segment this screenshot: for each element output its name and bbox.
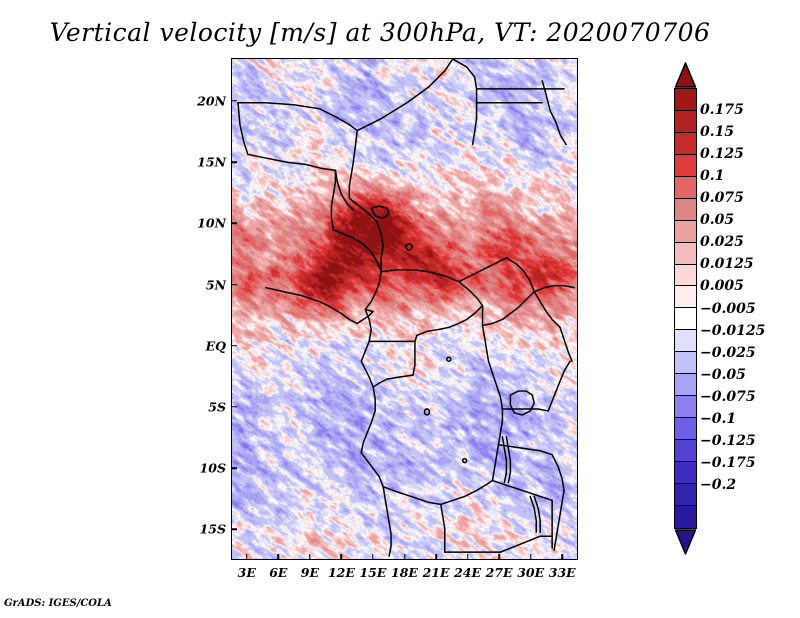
x-axis-tick-label: 21E bbox=[423, 565, 450, 580]
colorbar-band bbox=[675, 286, 696, 308]
colorbar-tick-label: 0.125 bbox=[700, 146, 744, 162]
colorbar-tick-label: −0.075 bbox=[700, 389, 756, 405]
x-axis-tick bbox=[309, 554, 311, 560]
colorbar-tick-label: −0.005 bbox=[700, 301, 756, 317]
colorbar-tick-label: 0.15 bbox=[700, 124, 734, 140]
x-axis-tick-label: 3E bbox=[238, 565, 256, 580]
colorbar-tick-label: 0.05 bbox=[700, 212, 734, 228]
y-axis-tick bbox=[231, 161, 237, 163]
colorbar-tick-label: −0.05 bbox=[700, 367, 746, 383]
country-borders-overlay bbox=[232, 59, 577, 558]
colorbar-band bbox=[675, 440, 696, 462]
colorbar-tick-label: −0.1 bbox=[700, 411, 736, 427]
x-axis-tick-label: 30E bbox=[517, 565, 544, 580]
colorbar-band bbox=[675, 330, 696, 352]
colorbar-tick-label: −0.175 bbox=[700, 455, 756, 471]
y-axis-ticks bbox=[231, 58, 239, 560]
x-axis-tick bbox=[467, 554, 469, 560]
x-axis-tick-label: 27E bbox=[486, 565, 513, 580]
x-axis-tick-label: 9E bbox=[301, 565, 319, 580]
y-axis-tick bbox=[231, 529, 237, 531]
colorbar-band bbox=[675, 243, 696, 265]
colorbar-tick-label: 0.1 bbox=[700, 168, 724, 184]
x-axis-tick-label: 12E bbox=[328, 565, 355, 580]
colorbar-band bbox=[675, 462, 696, 484]
colorbar-arrow-bottom bbox=[674, 529, 697, 555]
x-axis-tick-label: 18E bbox=[391, 565, 418, 580]
colorbar-band bbox=[675, 199, 696, 221]
colorbar-tick-label: −0.125 bbox=[700, 433, 756, 449]
colorbar-tick-label: −0.2 bbox=[700, 477, 736, 493]
x-axis-tick-label: 33E bbox=[549, 565, 576, 580]
colorbar-arrow-top bbox=[674, 62, 697, 88]
colorbar-band bbox=[675, 221, 696, 243]
y-axis-tick-label: EQ bbox=[206, 338, 226, 353]
colorbar-band bbox=[675, 265, 696, 287]
x-axis-tick-label: 6E bbox=[269, 565, 287, 580]
x-axis-tick bbox=[404, 554, 406, 560]
x-axis-labels: 3E6E9E12E15E18E21E24E27E30E33E bbox=[231, 565, 578, 585]
x-axis-tick bbox=[530, 554, 532, 560]
colorbar-bands bbox=[674, 88, 697, 529]
colorbar-tick-label: 0.175 bbox=[700, 102, 744, 118]
colorbar-band bbox=[675, 155, 696, 177]
y-axis-tick-label: 5S bbox=[208, 399, 226, 414]
colorbar-band bbox=[675, 111, 696, 133]
x-axis-tick bbox=[561, 554, 563, 560]
y-axis-tick-label: 10S bbox=[200, 461, 226, 476]
x-axis-tick bbox=[246, 554, 248, 560]
colorbar-band bbox=[675, 352, 696, 374]
x-axis-ticks bbox=[231, 554, 578, 562]
x-axis-tick-label: 24E bbox=[454, 565, 481, 580]
x-axis-tick bbox=[435, 554, 437, 560]
y-axis-tick-label: 5N bbox=[206, 277, 226, 292]
colorbar-band bbox=[675, 484, 696, 506]
colorbar-tick-label: 0.005 bbox=[700, 278, 744, 294]
x-axis-tick bbox=[341, 554, 343, 560]
colorbar-tick-label: 0.025 bbox=[700, 234, 744, 250]
y-axis-tick bbox=[231, 406, 237, 408]
colorbar-tick-label: 0.0125 bbox=[700, 256, 754, 272]
colorbar-band bbox=[675, 396, 696, 418]
colorbar-band bbox=[675, 133, 696, 155]
colorbar-band bbox=[675, 89, 696, 111]
y-axis-tick bbox=[231, 467, 237, 469]
y-axis-tick bbox=[231, 345, 237, 347]
map-plot-area bbox=[231, 58, 578, 560]
x-axis-tick-label: 15E bbox=[359, 565, 386, 580]
colorbar-band bbox=[675, 374, 696, 396]
footer-credit: GrADS: IGES/COLA bbox=[4, 598, 112, 609]
x-axis-tick bbox=[372, 554, 374, 560]
y-axis-tick-label: 20N bbox=[197, 93, 226, 108]
y-axis-tick bbox=[231, 284, 237, 286]
colorbar-band bbox=[675, 506, 696, 528]
colorbar-tick-label: 0.075 bbox=[700, 190, 744, 206]
page-title: Vertical velocity [m/s] at 300hPa, VT: 2… bbox=[0, 18, 760, 47]
y-axis-tick-label: 10N bbox=[197, 216, 226, 231]
y-axis-labels: 20N15N10N5NEQ5S10S15S bbox=[186, 58, 226, 560]
x-axis-tick bbox=[498, 554, 500, 560]
x-axis-tick bbox=[278, 554, 280, 560]
y-axis-tick bbox=[231, 223, 237, 225]
colorbar bbox=[674, 62, 697, 555]
colorbar-band bbox=[675, 308, 696, 330]
y-axis-tick bbox=[231, 100, 237, 102]
y-axis-tick-label: 15S bbox=[200, 522, 226, 537]
colorbar-tick-label: −0.025 bbox=[700, 345, 756, 361]
y-axis-tick-label: 15N bbox=[197, 155, 226, 170]
colorbar-band bbox=[675, 418, 696, 440]
colorbar-band bbox=[675, 177, 696, 199]
colorbar-labels: 0.1750.150.1250.10.0750.050.0250.01250.0… bbox=[700, 62, 798, 555]
colorbar-tick-label: −0.0125 bbox=[700, 323, 765, 339]
